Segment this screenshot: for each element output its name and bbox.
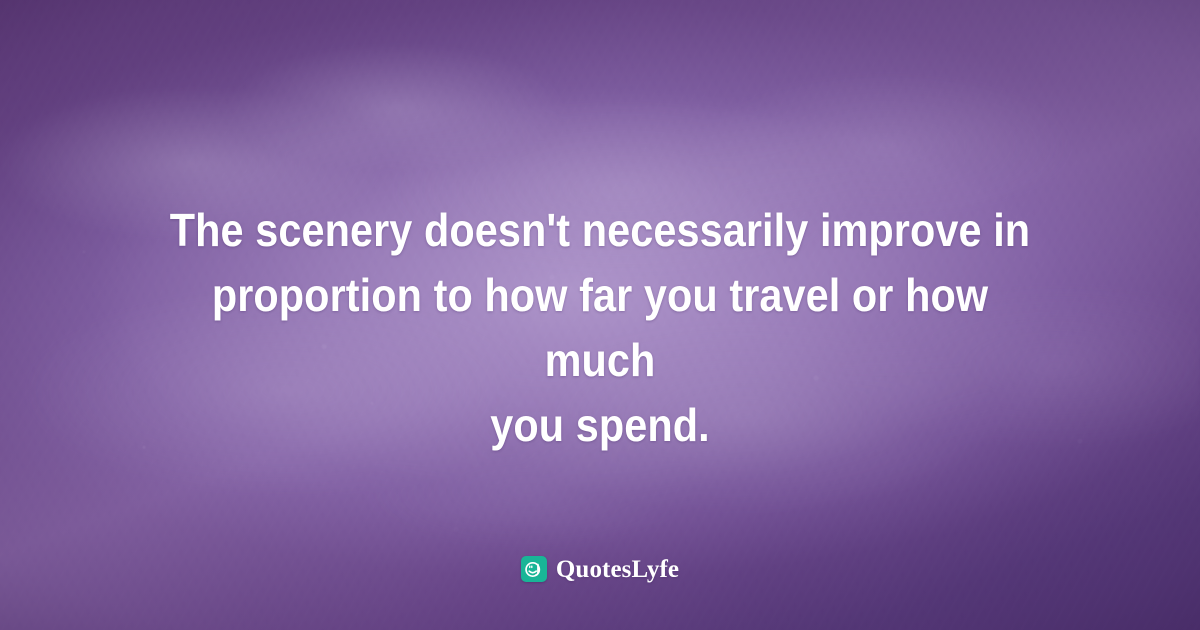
brand-name: QuotesLyfe xyxy=(556,557,679,582)
quote-block: The scenery doesn't necessarily improve … xyxy=(0,198,1200,458)
quote-smiley-icon xyxy=(521,556,547,582)
quote-card: The scenery doesn't necessarily improve … xyxy=(0,0,1200,630)
brand-footer: QuotesLyfe xyxy=(0,556,1200,582)
quote-text: The scenery doesn't necessarily improve … xyxy=(168,198,1032,458)
